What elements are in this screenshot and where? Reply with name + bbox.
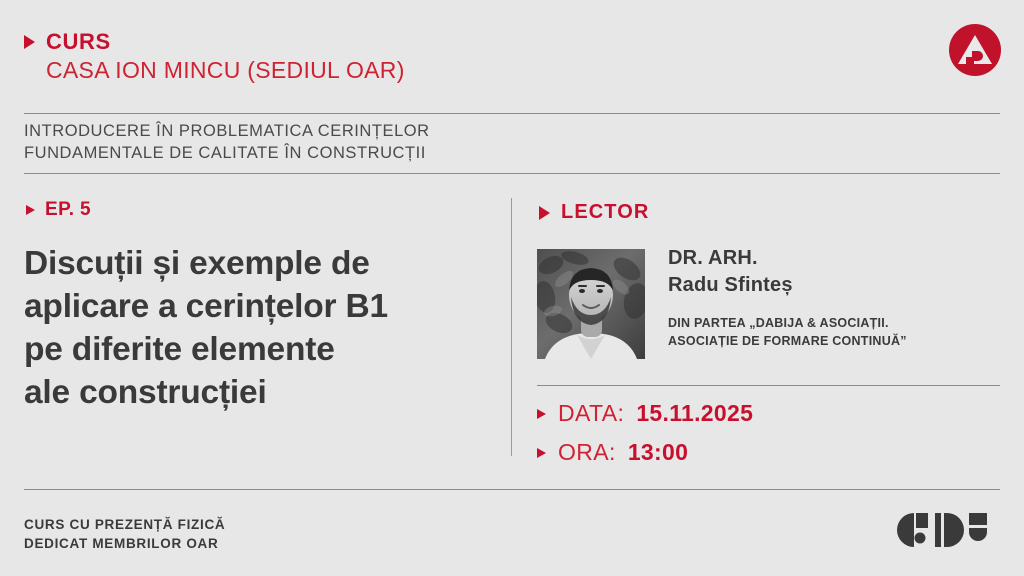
triangle-bullet-icon [537, 448, 546, 458]
time-value: 13:00 [628, 439, 688, 466]
lector-name: DR. ARH. Radu Sfinteș [668, 245, 793, 299]
triangle-bullet-icon [26, 205, 35, 215]
date-label: DATA: [558, 400, 624, 427]
lector-label-row: LECTOR [539, 201, 649, 224]
column-divider [511, 198, 512, 456]
divider-top [24, 113, 1000, 114]
divider-under-subtitle [24, 173, 1000, 174]
lector-portrait [537, 249, 645, 359]
poster-canvas: CURS CASA ION MINCU (SEDIUL OAR) INTRODU… [0, 0, 1024, 576]
episode-label: EP. 5 [45, 199, 91, 221]
date-value: 15.11.2025 [636, 400, 753, 427]
date-row: DATA: 15.11.2025 [537, 400, 753, 427]
footer-note: CURS CU PREZENȚĂ FIZICĂ DEDICAT MEMBRILO… [24, 515, 225, 553]
triangle-bullet-icon [537, 409, 546, 419]
time-row: ORA: 13:00 [537, 439, 753, 466]
divider-footer [24, 489, 1000, 490]
cdu-logo [897, 513, 987, 547]
episode-label-row: EP. 5 [26, 199, 91, 221]
lector-organisation: DIN PARTEA „DABIJA & ASOCIAȚII. ASOCIAȚI… [668, 315, 1003, 351]
header-kicker: CURS [46, 30, 111, 53]
time-label: ORA: [558, 439, 616, 466]
meta-block: DATA: 15.11.2025 ORA: 13:00 [537, 400, 753, 478]
lector-label: LECTOR [561, 201, 649, 224]
course-subtitle: INTRODUCERE ÎN PROBLEMATICA CERINȚELOR F… [24, 121, 430, 165]
header-kicker-row: CURS [24, 30, 405, 53]
episode-title: Discuții și exemple de aplicare a cerinț… [24, 243, 499, 415]
triangle-bullet-icon [24, 35, 35, 49]
oar-logo [949, 24, 1001, 76]
header-venue: CASA ION MINCU (SEDIUL OAR) [46, 58, 405, 83]
header-block: CURS CASA ION MINCU (SEDIUL OAR) [24, 30, 405, 83]
triangle-bullet-icon [539, 206, 550, 220]
divider-above-meta [537, 385, 1000, 386]
